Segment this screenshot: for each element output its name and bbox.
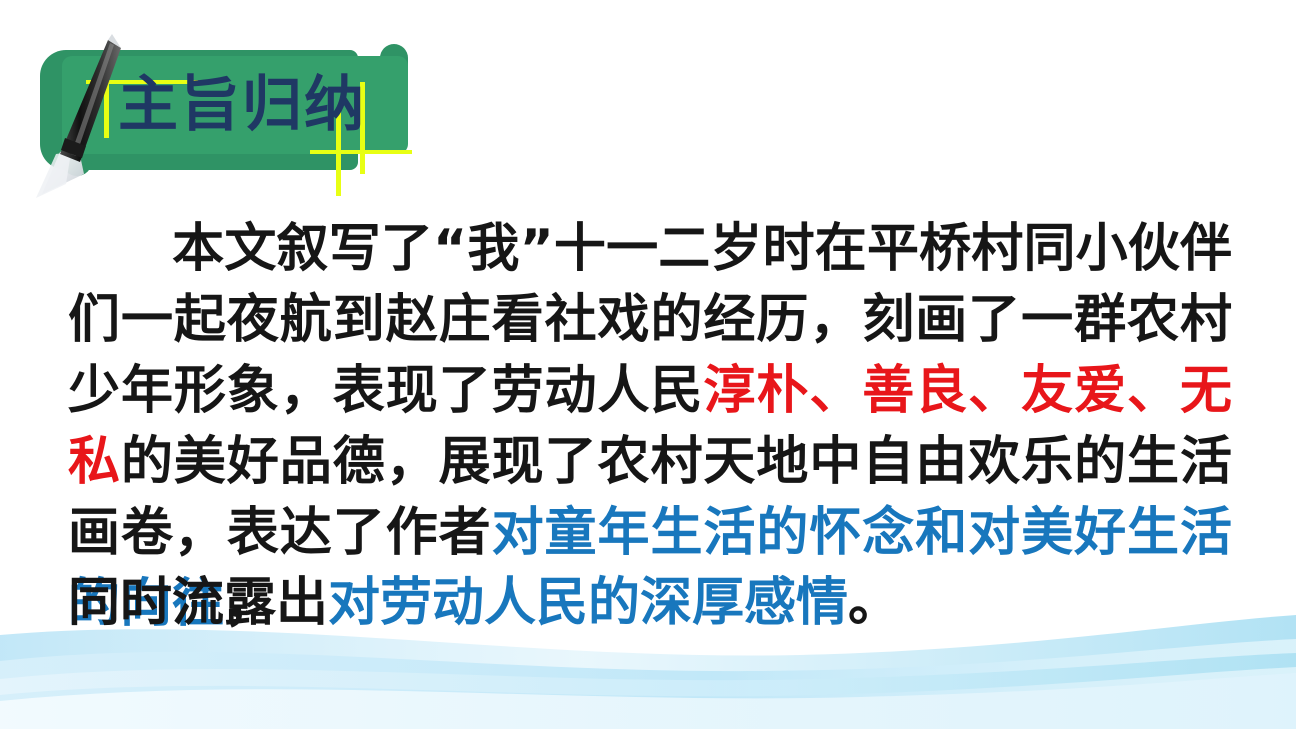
page-title: 主旨归纳 [118, 58, 384, 152]
summary-paragraph-last-line: 同时流露出对劳动人民的深厚感情。 [68, 568, 1232, 639]
calligraphy-brush-icon [26, 34, 156, 204]
slide-canvas: 主旨归纳 [0, 0, 1296, 729]
paragraph-segment-plain-5: 。 [848, 573, 900, 633]
paragraph-segment-plain-4: 同时流露出 [68, 573, 328, 633]
title-banner: 主旨归纳 [18, 24, 418, 176]
paragraph-segment-highlight-blue-2: 对劳动人民的深厚感情 [328, 573, 848, 633]
